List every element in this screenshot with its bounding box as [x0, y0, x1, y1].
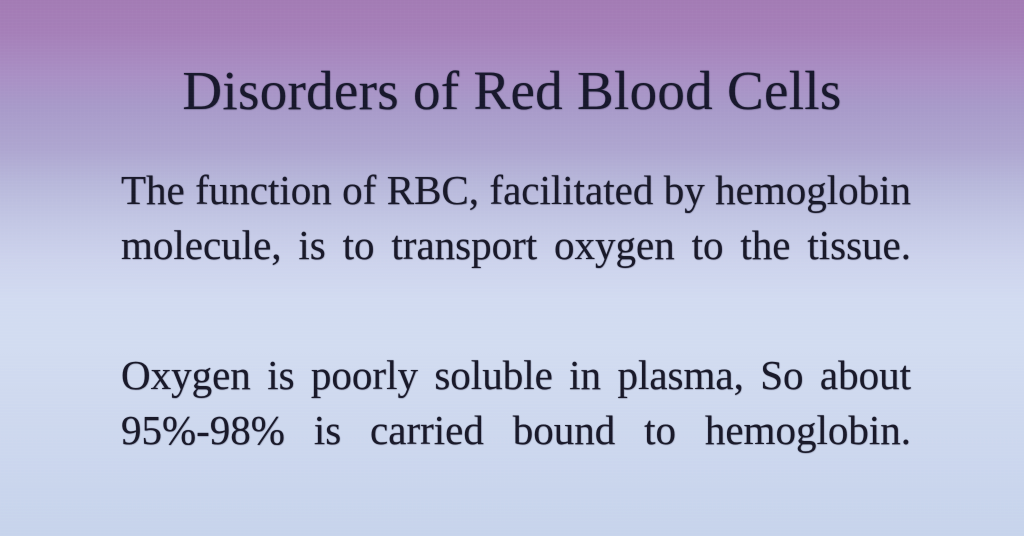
body-paragraph-1: The function of RBC, facilitated by hemo…: [121, 163, 911, 328]
body-paragraph-2: Oxygen is poorly soluble in plasma, So a…: [121, 348, 911, 513]
presentation-slide: Disorders of Red Blood Cells The functio…: [0, 0, 1024, 536]
slide-body: The function of RBC, facilitated by hemo…: [121, 163, 911, 513]
page-title: Disorders of Red Blood Cells: [0, 61, 1024, 120]
